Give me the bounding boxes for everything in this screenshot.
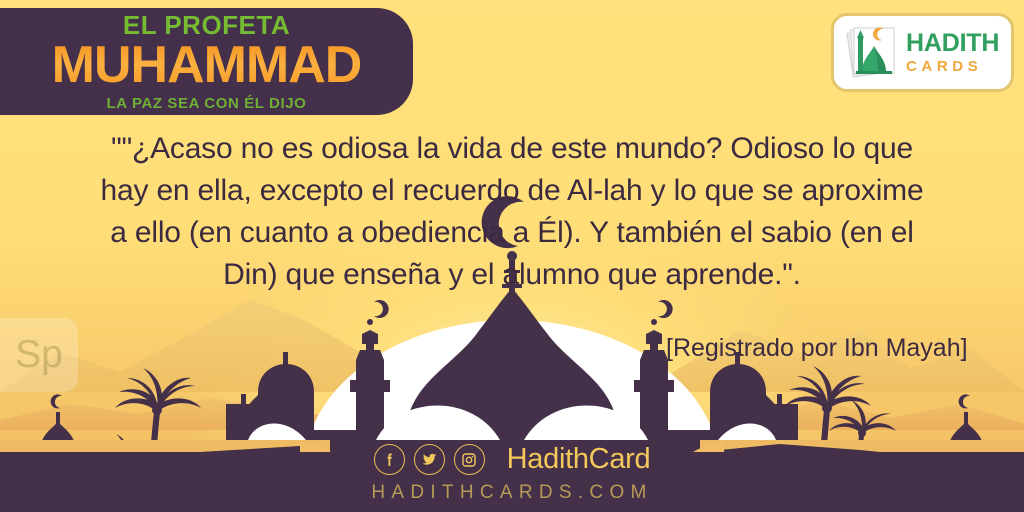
- hadith-line: hay en ella, excepto el recuerdo de Al-l…: [28, 170, 996, 212]
- watermark-sp: Sp: [0, 318, 78, 392]
- hadith-body: ""¿Acaso no es odiosa la vida de este mu…: [28, 128, 996, 296]
- brand-wordmark: HADITH CARDS: [906, 31, 999, 74]
- eyebrow-label: EL PROFETA: [123, 12, 290, 38]
- hadith-line: Din) que enseña y el alumno que aprende.…: [28, 254, 996, 296]
- brand-word-hadith: HADITH: [906, 29, 999, 57]
- instagram-icon[interactable]: [454, 444, 485, 475]
- twitter-icon[interactable]: [414, 444, 445, 475]
- brand-word-cards: CARDS: [906, 59, 999, 74]
- watermark-label: Sp: [15, 333, 63, 377]
- social-handle[interactable]: HadithCard: [507, 445, 651, 474]
- website-url[interactable]: HADITHCARDS.COM: [371, 482, 652, 504]
- mosque-photo-cards-icon: [842, 24, 904, 82]
- page-title: MUHAMMAD: [52, 39, 362, 92]
- title-badge: EL PROFETA MUHAMMAD LA PAZ SEA CON ÉL DI…: [0, 8, 413, 115]
- subtitle-label: LA PAZ SEA CON ÉL DIJO: [107, 96, 307, 111]
- hadith-card: Sp EL PROFETA MUHAMMAD LA PAZ SEA CON ÉL…: [0, 0, 1024, 512]
- hadith-reference: [Registrado por Ibn Mayah]: [666, 336, 968, 361]
- social-links: HadithCard: [374, 444, 651, 475]
- footer-bar: HadithCard HADITHCARDS.COM: [0, 440, 1024, 512]
- facebook-icon[interactable]: [374, 444, 405, 475]
- hadith-line: ""¿Acaso no es odiosa la vida de este mu…: [28, 128, 996, 170]
- brand-logo[interactable]: HADITH CARDS: [831, 13, 1014, 92]
- hadith-line: a ello (en cuanto a obediencia a Él). Y …: [28, 212, 996, 254]
